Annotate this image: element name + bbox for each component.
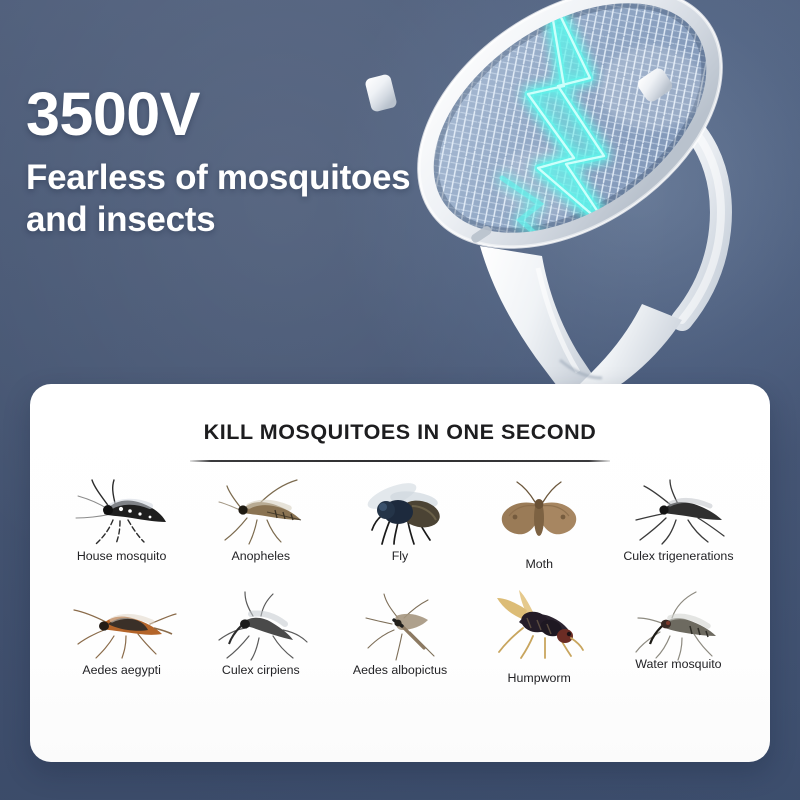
title-divider — [190, 460, 610, 462]
insect-cell-culex-trigenerations: Culex trigenerations — [609, 474, 748, 572]
insect-cell-humpworm: Humpworm — [470, 588, 609, 686]
headline-block: 3500V Fearless of mosquitoes and insects — [26, 84, 456, 242]
mosquito-dark-icon — [614, 474, 742, 548]
mosquito-striped-icon — [58, 474, 186, 548]
insect-cell-culex-cirpiens: Culex cirpiens — [191, 588, 330, 686]
tagline-block: Fearless of mosquitoes and insects — [26, 157, 456, 242]
mosquito-gray-icon — [197, 588, 325, 662]
insect-cell-aedes-aegypti: Aedes aegypti — [52, 588, 191, 686]
moth-icon — [475, 474, 603, 548]
swatter-handle — [480, 246, 682, 398]
insect-row-1: House mosquito — [30, 474, 770, 572]
insect-row-2: Aedes aegypti — [30, 588, 770, 686]
insect-cell-water-mosquito: Water mosquito — [609, 588, 748, 686]
insect-cell-anopheles: Anopheles — [191, 474, 330, 572]
card-title: KILL MOSQUITOES IN ONE SECOND — [30, 420, 770, 445]
insect-label: Fly — [392, 550, 409, 564]
mosquito-slim-icon — [336, 588, 464, 662]
insect-cell-house-mosquito: House mosquito — [52, 474, 191, 572]
insect-label: Aedes albopictus — [353, 664, 447, 678]
insect-grid: House mosquito — [30, 474, 770, 685]
insect-label: Anopheles — [232, 550, 291, 564]
mosquito-water-icon — [614, 588, 742, 662]
voltage-text: 3500V — [26, 84, 456, 145]
insect-cell-aedes-albopictus: Aedes albopictus — [330, 588, 469, 686]
mosquito-orange-icon — [58, 588, 186, 662]
insect-label: Humpworm — [508, 672, 571, 686]
insect-cell-moth: Moth — [470, 474, 609, 572]
insect-info-card: KILL MOSQUITOES IN ONE SECOND — [30, 384, 770, 762]
insect-label: Culex cirpiens — [222, 664, 300, 678]
hornet-icon — [475, 588, 603, 662]
housefly-icon — [336, 474, 464, 548]
insect-cell-fly: Fly — [330, 474, 469, 572]
mosquito-tan-icon — [197, 474, 325, 548]
insect-label: House mosquito — [77, 550, 167, 564]
insect-label: Moth — [525, 558, 553, 572]
product-banner: 3500V Fearless of mosquitoes and insects… — [0, 0, 800, 800]
tagline-line-1: Fearless of mosquitoes — [26, 157, 456, 199]
insect-label: Aedes aegypti — [82, 664, 161, 678]
insect-label: Culex trigenerations — [623, 550, 733, 564]
tagline-line-2: and insects — [26, 199, 456, 241]
